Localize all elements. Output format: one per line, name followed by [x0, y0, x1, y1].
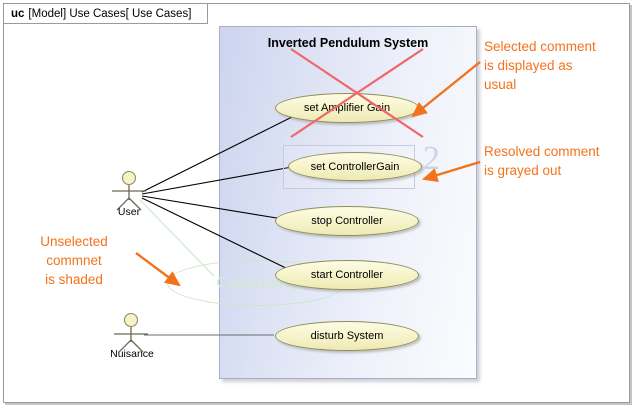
- use-case-stop-controller[interactable]: stop Controller: [275, 206, 419, 236]
- actor-user-head: [123, 172, 136, 185]
- resolved-comment-marker: 2: [423, 140, 440, 178]
- frame-name-label: [Model] Use Cases[ Use Cases]: [28, 8, 191, 20]
- diagram-frame: Inverted Pendulum System Calibrating 2 s…: [3, 3, 630, 403]
- use-case-set-amplifier-gain[interactable]: set Amplifier Gain: [275, 93, 419, 123]
- use-case-label-set-amplifier-gain: set Amplifier Gain: [304, 102, 390, 114]
- use-case-start-controller[interactable]: start Controller: [275, 260, 419, 290]
- use-case-label-stop-controller: stop Controller: [311, 215, 383, 227]
- use-case-label-start-controller: start Controller: [311, 269, 383, 281]
- system-boundary-title: Inverted Pendulum System: [220, 36, 476, 50]
- frame-kind-label: uc: [11, 8, 24, 20]
- frame-header-tab[interactable]: uc [Model] Use Cases[ Use Cases]: [4, 4, 208, 24]
- annotation-resolved-comment: Resolved comment is grayed out: [484, 142, 600, 180]
- actor-label-user: User: [104, 206, 154, 218]
- use-case-set-controller-gain[interactable]: set ControllerGain: [288, 152, 422, 181]
- use-case-label-set-controller-gain: set ControllerGain: [311, 161, 400, 173]
- annotation-unselected-comment: Unselected commnet is shaded: [18, 232, 130, 289]
- diagram-canvas[interactable]: Inverted Pendulum System Calibrating 2 s…: [4, 4, 631, 404]
- use-case-disturb-system[interactable]: disturb System: [275, 321, 419, 351]
- actor-label-nuisance: Nuisance: [102, 348, 162, 360]
- annotation-selected-comment: Selected comment is displayed as usual: [484, 37, 596, 94]
- actor-nuisance-head: [125, 314, 138, 327]
- use-case-label-disturb-system: disturb System: [311, 330, 384, 342]
